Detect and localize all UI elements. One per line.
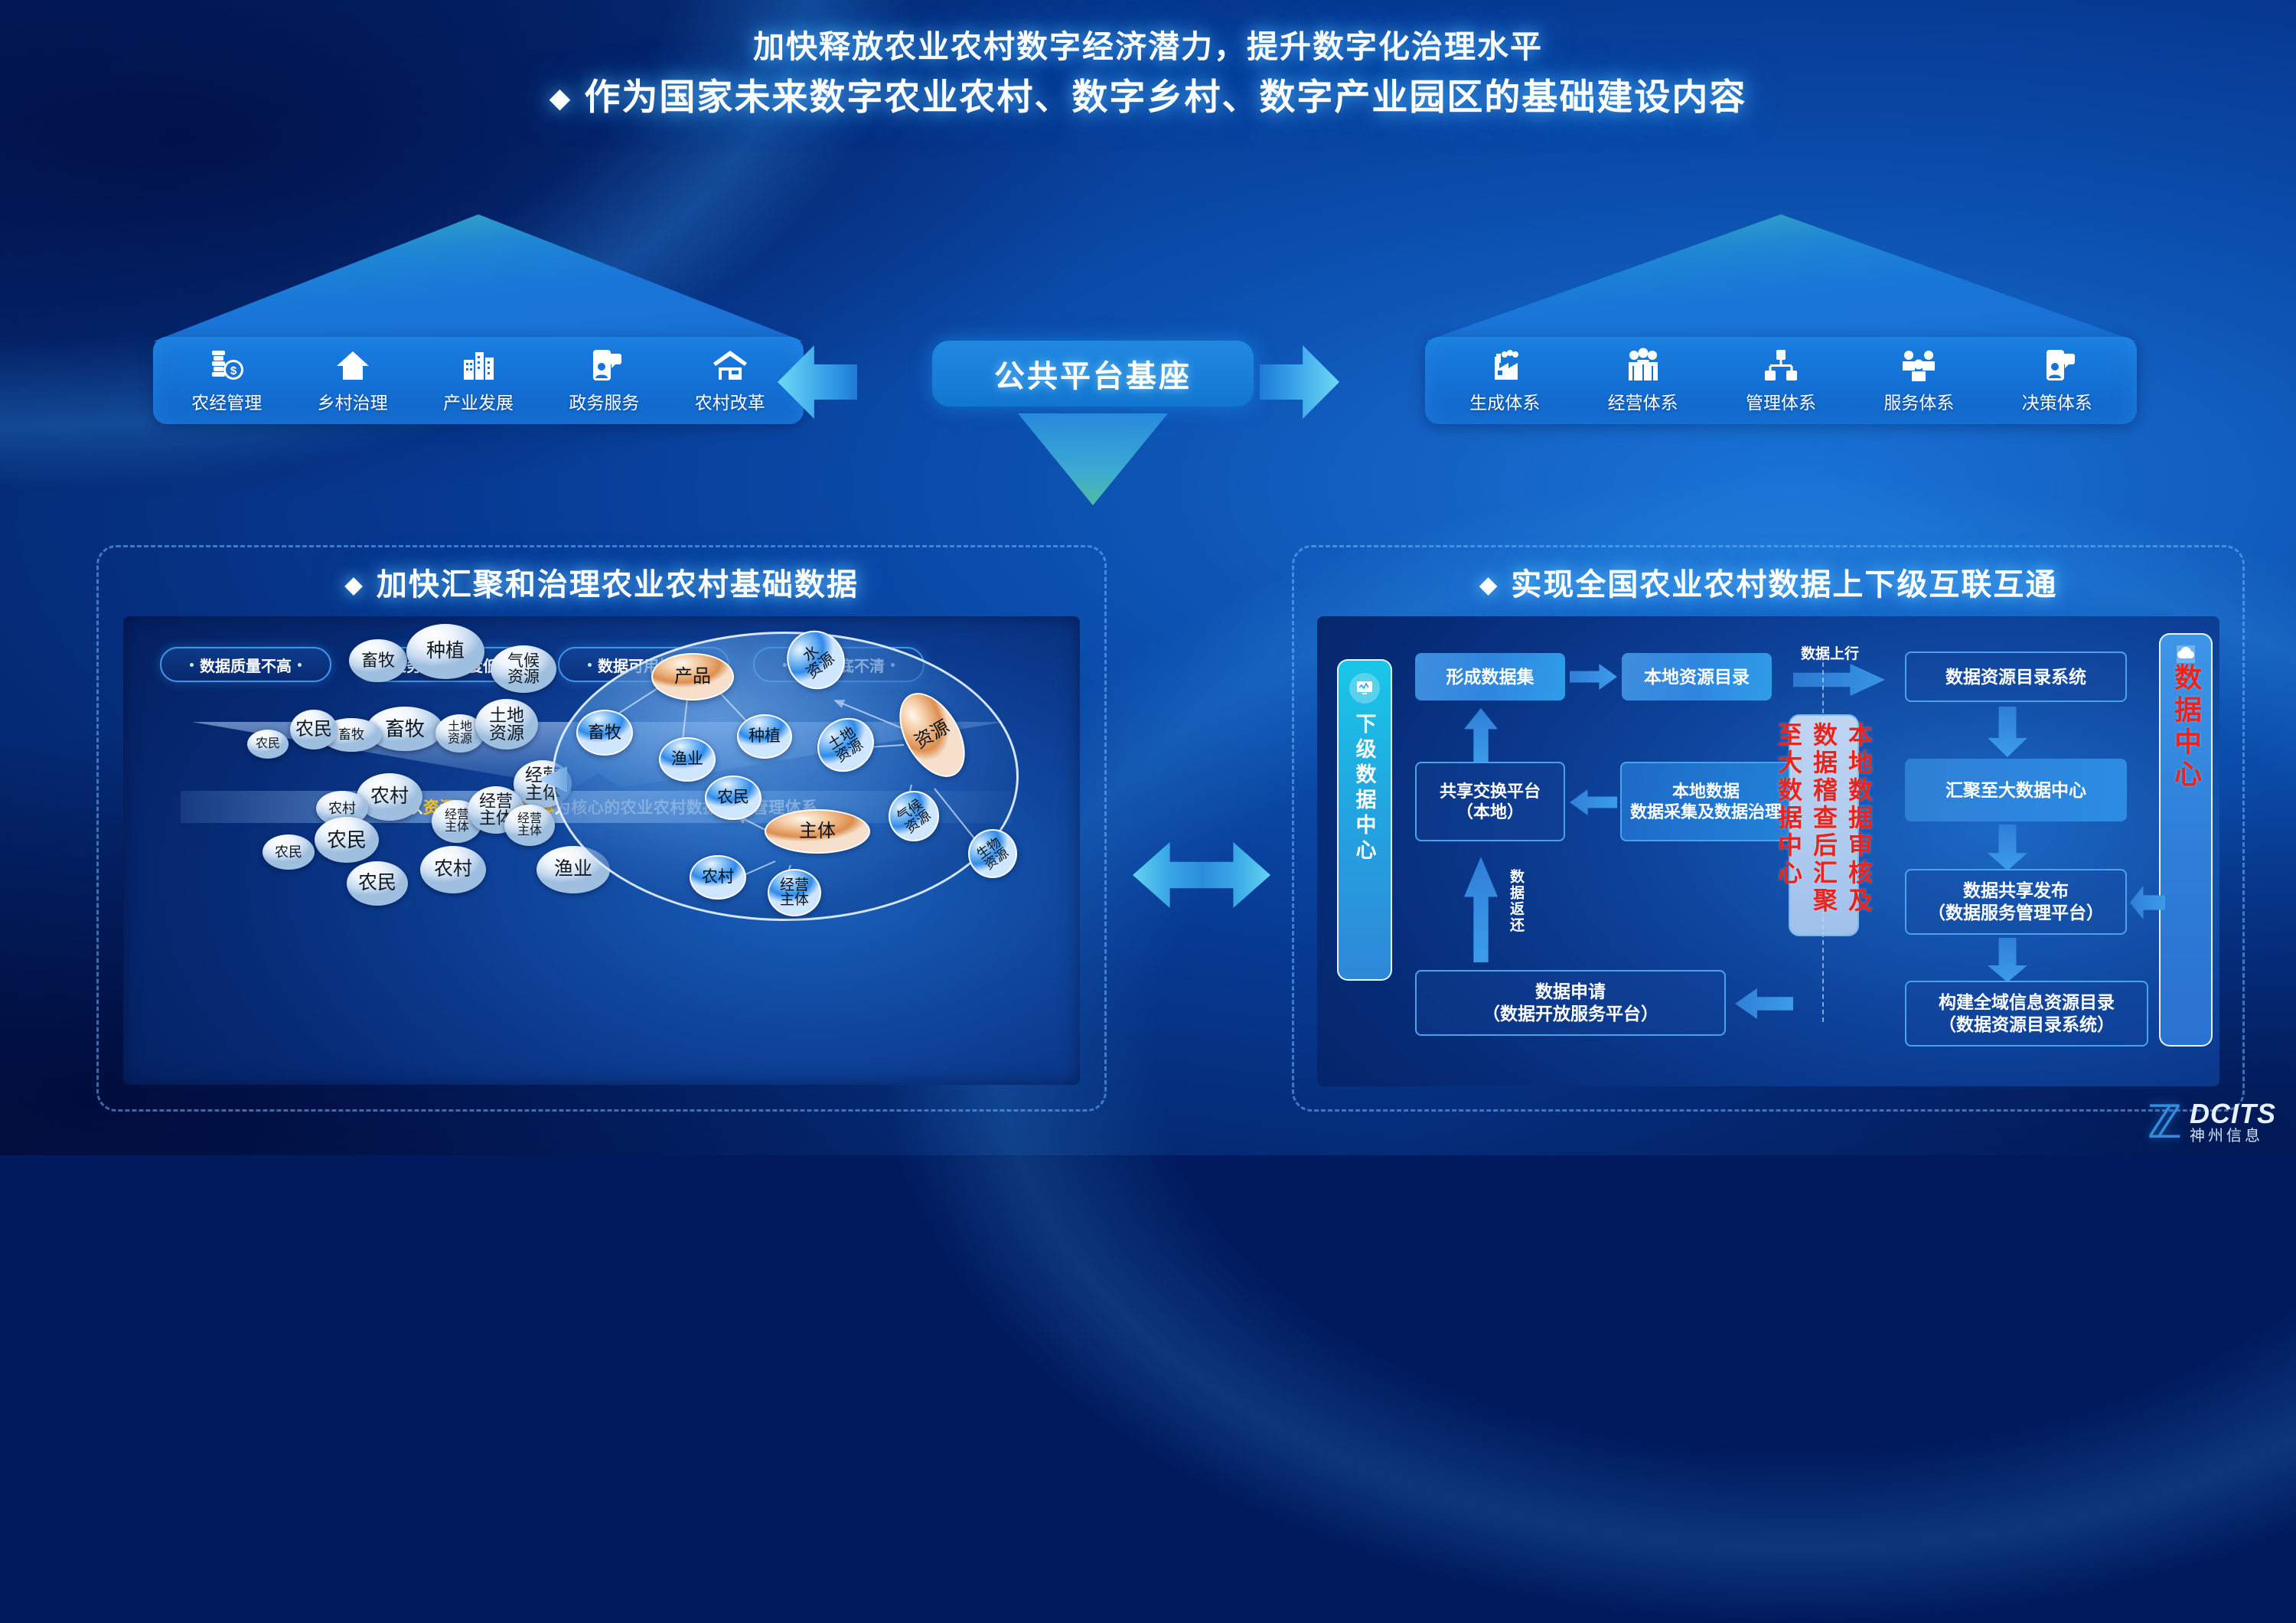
right-item-0-label: 生成体系 [1469, 388, 1540, 414]
box-local-data-collect[interactable]: 本地数据数据采集及数据治理 [1620, 762, 1792, 841]
box-local-catalog[interactable]: 本地资源目录 [1622, 653, 1772, 700]
core-node: 畜牧 [576, 710, 633, 756]
lower-data-center-sidebar[interactable]: 下级数据中心 [1337, 659, 1392, 981]
left-item-2-label: 产业发展 [443, 388, 514, 414]
left-item-4-label: 农村改革 [695, 388, 765, 414]
data-bubble: 种植 [406, 624, 484, 679]
right-house-card: 智慧农业发展 生成体系 经营体系 [1425, 214, 2137, 429]
core-node: 产品 [651, 653, 734, 700]
core-node: 农民 [705, 776, 762, 820]
right-panel-title-text: 实现全国农业农村数据上下级互联互通 [1511, 568, 2057, 602]
dcits-mark-icon: ℤ [2148, 1104, 2182, 1141]
right-item-2-label: 管理体系 [1746, 388, 1816, 414]
cloud-icon [2177, 645, 2195, 663]
data-bubble: 农民 [247, 730, 289, 759]
company-logo: ℤ DCITS 神州信息 [2148, 1099, 2276, 1145]
right-panel-title: ◆实现全国农业农村数据上下级互联互通 [1294, 560, 2242, 604]
diamond-bullet-icon: ◆ [344, 571, 364, 599]
box-data-apply[interactable]: 数据申请（数据开放服务平台） [1415, 970, 1726, 1036]
left-house-card: 数字乡村建设 $ 农经管理 乡村治理 [153, 214, 804, 429]
problem-pill-0[interactable]: 数据质量不高 [160, 647, 331, 682]
data-bubble: 畜牧 [349, 639, 407, 682]
money-stack-icon: $ [207, 348, 246, 383]
core-node: 种植 [737, 714, 792, 759]
arrow-down-icon [1988, 707, 2027, 757]
box-aggregate-center[interactable]: 汇聚至大数据中心 [1905, 759, 2127, 821]
gate-house-icon [711, 348, 749, 383]
arrow-down-icon [1988, 938, 2027, 982]
svg-text:$: $ [230, 364, 237, 377]
logo-cn-name: 神州信息 [2190, 1128, 2276, 1145]
bullet-dot-icon [190, 663, 194, 667]
logo-name: DCITS [2190, 1099, 2276, 1128]
factory-icon [1486, 348, 1524, 383]
arrow-right-icon [1570, 664, 1617, 690]
left-item-0[interactable]: $ 农经管理 [188, 348, 265, 414]
left-item-4[interactable]: 农村改革 [692, 348, 768, 414]
data-bubble: 农民 [263, 834, 315, 870]
left-item-3[interactable]: 政务服务 [566, 348, 642, 414]
data-bubble: 农民 [290, 710, 338, 749]
box-catalog-system[interactable]: 数据资源目录系统 [1905, 651, 2127, 702]
right-panel-canvas: 下级数据中心 形成数据集 本地资源目录 数据上行 数据资源目录系统 共享交换平台… [1317, 616, 2219, 1086]
mobile-service-icon [585, 348, 623, 383]
arrow-up-icon [1464, 708, 1498, 763]
right-house-roof [1425, 214, 2137, 341]
left-panel-title: ◆加快汇聚和治理农业农村基础数据 [99, 560, 1104, 604]
org-chart-icon [1762, 348, 1800, 383]
left-bottom-panel: ◆加快汇聚和治理农业农村基础数据 数据质量不高 业务关联程度低 数据可用性低 数… [96, 545, 1107, 1112]
bullet-dot-icon [588, 663, 592, 667]
data-center-label: 数据中心 [2166, 663, 2206, 792]
right-item-1-label: 经营体系 [1608, 388, 1678, 414]
right-bottom-panel: ◆实现全国农业农村数据上下级互联互通 下级数据中心 形成数据集 本地资源目录 数… [1292, 545, 2245, 1112]
core-node: 主体 [765, 809, 870, 854]
left-house-roof [153, 214, 804, 341]
data-bubble: 农民 [315, 817, 379, 863]
right-item-3[interactable]: 服务体系 [1880, 348, 1957, 414]
center-note-card: 本地数据审核及数据稽查后汇聚至大数据中心 [1789, 714, 1859, 936]
arrow-left-return-icon [1735, 988, 1793, 1019]
right-item-2[interactable]: 管理体系 [1743, 348, 1819, 414]
problem-pill-0-label: 数据质量不高 [200, 654, 292, 676]
right-item-0[interactable]: 生成体系 [1466, 348, 1543, 414]
diamond-bullet-icon: ◆ [1479, 571, 1499, 599]
data-bubble: 气候资源 [491, 645, 556, 693]
label-data-return: 数据返还 [1505, 869, 1526, 933]
page-subheadline: ◆作为国家未来数字农业农村、数字乡村、数字产业园区的基础建设内容 [0, 67, 2296, 120]
right-house-items: 生成体系 经营体系 [1425, 337, 2137, 424]
core-node: 渔业 [659, 737, 716, 782]
data-bubble: 农村 [420, 846, 486, 893]
center-note-text: 本地数据审核及数据稽查后汇聚至大数据中心 [1771, 722, 1877, 935]
house-icon [334, 348, 372, 383]
left-item-3-label: 政务服务 [569, 388, 639, 414]
core-node: 经营主体 [768, 869, 821, 916]
left-item-0-label: 农经管理 [191, 388, 262, 414]
page-headline: 加快释放农业农村数字经济潜力，提升数字化治理水平 [0, 21, 2296, 67]
diamond-bullet-icon: ◆ [550, 82, 572, 114]
lower-data-center-label: 下级数据中心 [1350, 713, 1380, 864]
left-item-1-label: 乡村治理 [318, 388, 388, 414]
box-form-dataset[interactable]: 形成数据集 [1415, 653, 1565, 700]
right-item-4-label: 决策体系 [2022, 388, 2092, 414]
left-panel-canvas: 数据质量不高 业务关联程度低 数据可用性低 数据家底不清 构建以资源、产品、主体… [123, 616, 1080, 1085]
right-item-4[interactable]: 决策体系 [2019, 348, 2095, 414]
arrow-down-icon [1988, 825, 2027, 870]
data-bubble: 经营主体 [504, 805, 555, 846]
right-item-1[interactable]: 经营体系 [1605, 348, 1681, 414]
mobile-decision-icon [2038, 348, 2076, 383]
arrow-up-return-icon [1464, 857, 1498, 962]
left-house-items: $ 农经管理 乡村治理 [153, 337, 804, 424]
data-bubble: 土地资源 [475, 699, 538, 749]
box-share-platform[interactable]: 共享交换平台（本地） [1415, 762, 1565, 841]
arrow-right-upstream-icon [1793, 664, 1885, 696]
data-bubble: 农民 [347, 861, 408, 906]
buildings-icon [459, 348, 497, 383]
public-platform-base[interactable]: 公共平台基座 [932, 341, 1254, 407]
service-people-icon [1900, 348, 1938, 383]
arrow-left-icon [1570, 789, 1617, 815]
data-center-sidebar[interactable]: 数据中心 [2159, 633, 2213, 1047]
box-share-publish[interactable]: 数据共享发布（数据服务管理平台） [1905, 869, 2127, 935]
box-global-catalog[interactable]: 构建全域信息资源目录（数据资源目录系统） [1905, 981, 2148, 1047]
subheadline-text: 作为国家未来数字农业农村、数字乡村、数字产业园区的基础建设内容 [584, 77, 1746, 117]
left-item-2[interactable]: 产业发展 [440, 348, 517, 414]
bullet-dot-icon [298, 663, 302, 667]
monitor-chart-icon [1349, 673, 1380, 704]
core-node: 农村 [690, 855, 746, 900]
left-item-1[interactable]: 乡村治理 [315, 348, 391, 414]
label-data-upstream: 数据上行 [1801, 642, 1859, 663]
left-panel-title-text: 加快汇聚和治理农业农村基础数据 [377, 568, 859, 602]
people-group-icon [1624, 348, 1662, 383]
right-item-3-label: 服务体系 [1883, 388, 1954, 414]
